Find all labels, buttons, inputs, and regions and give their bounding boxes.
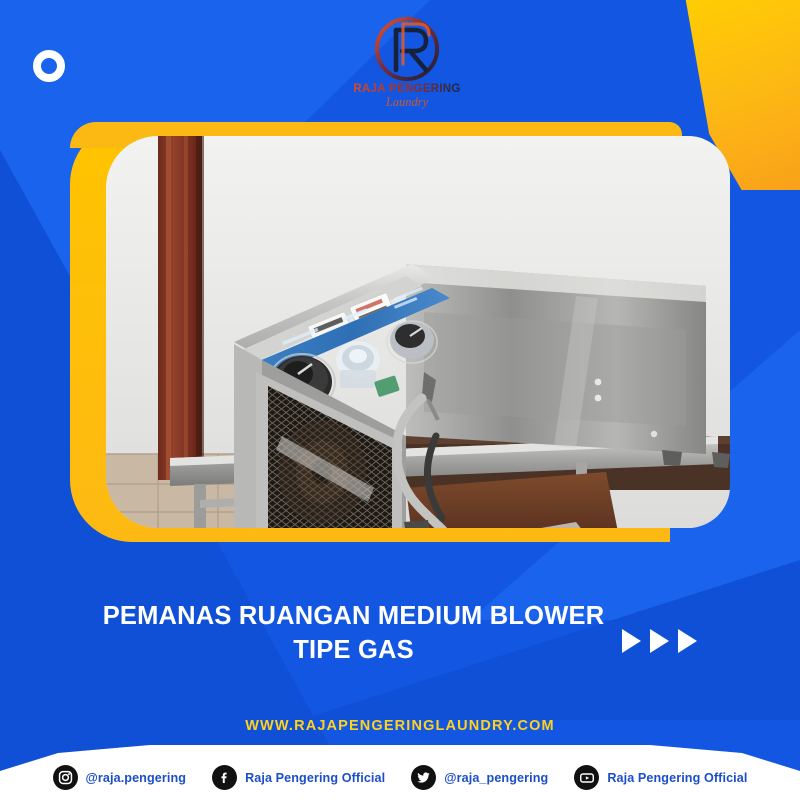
social-item-facebook[interactable]: Raja Pengering Official (212, 765, 385, 790)
page-title: PEMANAS RUANGAN MEDIUM BLOWER TIPE GAS (103, 600, 605, 667)
promotional-poster: RAJA PENGERING Laundry (0, 0, 800, 800)
play-arrow-icon (678, 629, 697, 653)
title-line-2: TIPE GAS (293, 636, 414, 664)
circle-outline-decoration (33, 50, 65, 82)
facebook-handle: Raja Pengering Official (245, 771, 385, 785)
brand-logo: RAJA PENGERING Laundry (352, 8, 462, 112)
social-footer: @raja.pengering Raja Pengering Official … (0, 745, 800, 800)
youtube-icon (574, 765, 599, 790)
twitter-handle: @raja_pengering (444, 771, 548, 785)
product-title-block: PEMANAS RUANGAN MEDIUM BLOWER TIPE GAS (0, 600, 800, 667)
play-arrow-icon (622, 629, 641, 653)
website-url[interactable]: WWW.RAJAPENGERINGLAUNDRY.COM (245, 718, 555, 734)
facebook-icon (212, 765, 237, 790)
instagram-icon (53, 765, 78, 790)
title-line-1: PEMANAS RUANGAN MEDIUM BLOWER (103, 602, 605, 630)
product-photo-card (70, 122, 730, 542)
logo-name: RAJA PENGERING (353, 83, 460, 95)
instagram-handle: @raja.pengering (86, 771, 187, 785)
website-url-strip: WWW.RAJAPENGERINGLAUNDRY.COM (0, 708, 800, 744)
social-item-instagram[interactable]: @raja.pengering (53, 765, 187, 790)
play-arrow-icon (650, 629, 669, 653)
social-item-youtube[interactable]: Raja Pengering Official (574, 765, 747, 790)
youtube-handle: Raja Pengering Official (607, 771, 747, 785)
social-item-twitter[interactable]: @raja_pengering (411, 765, 548, 790)
product-photo (106, 136, 730, 528)
twitter-icon (411, 765, 436, 790)
logo-tagline: Laundry (385, 95, 429, 109)
arrow-group (622, 629, 697, 653)
